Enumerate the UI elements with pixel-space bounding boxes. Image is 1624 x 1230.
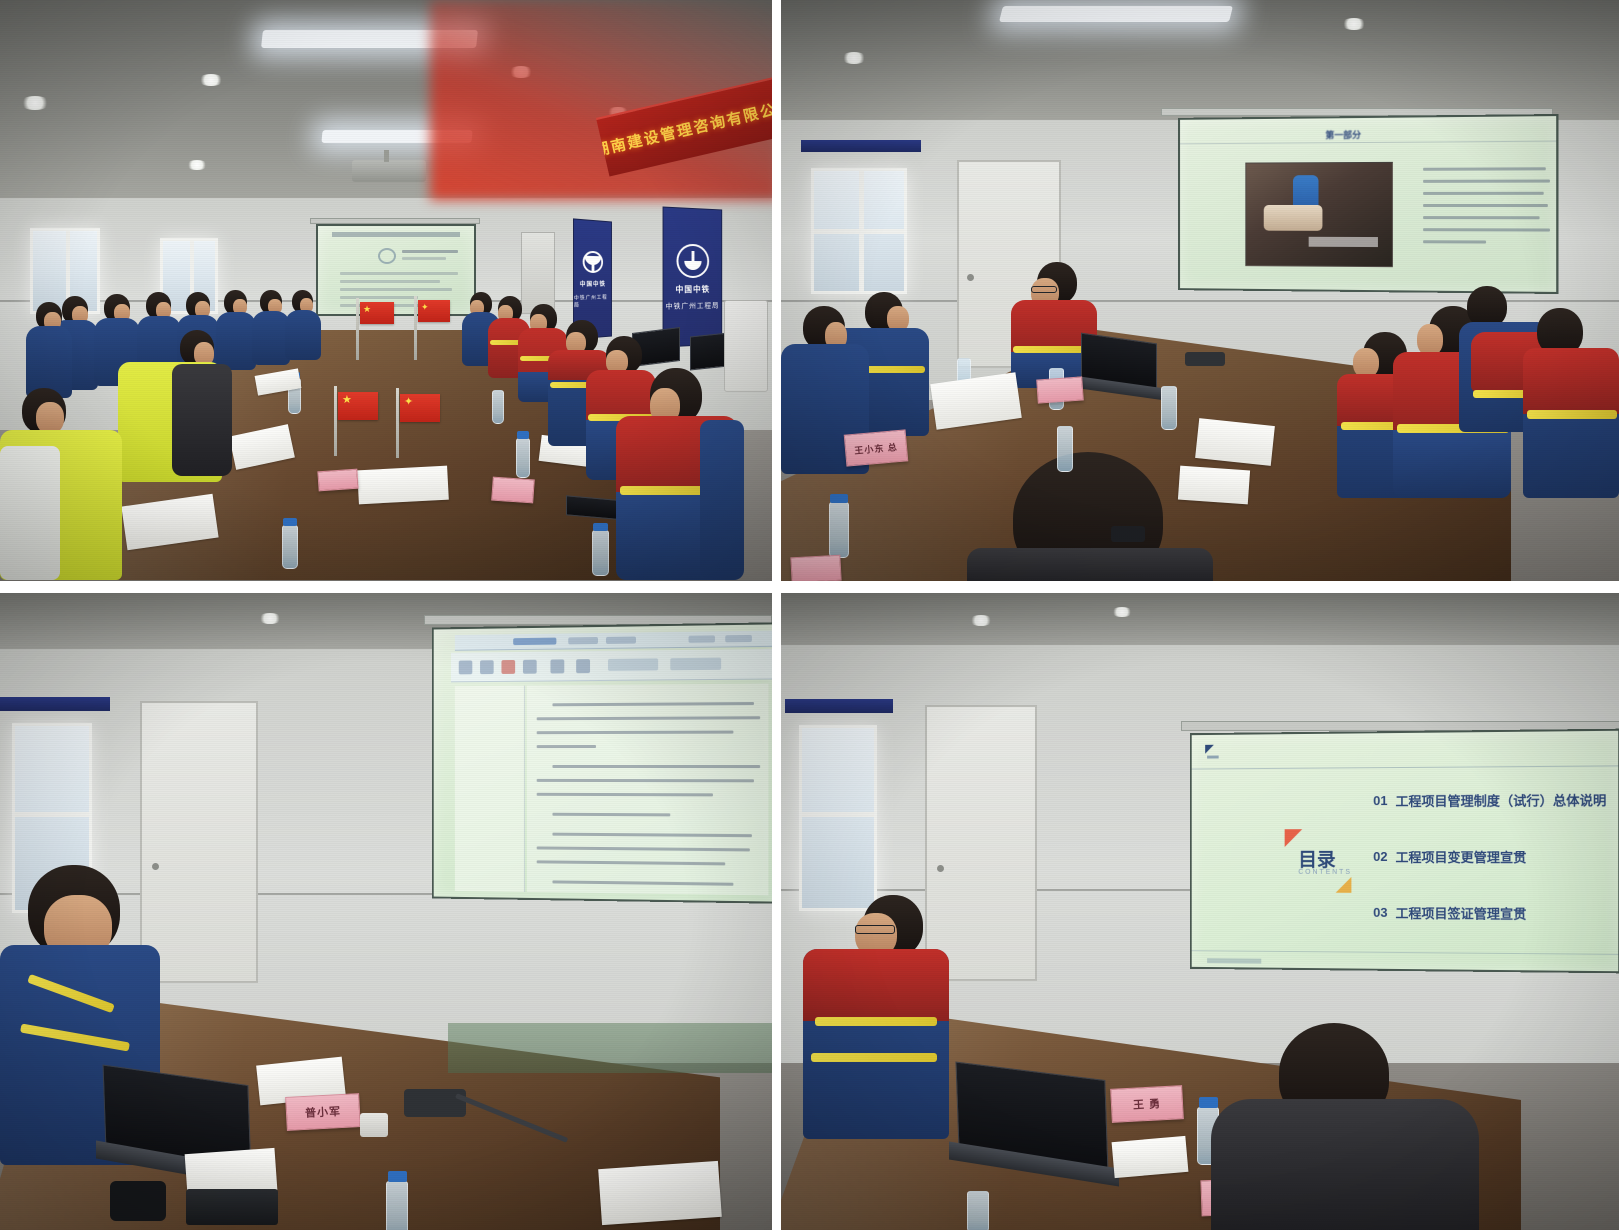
slide-text-line [402, 250, 458, 253]
door-knob-icon [152, 863, 159, 870]
ceiling-spot-light [198, 74, 224, 86]
name-card: 王小东 总 [844, 429, 909, 466]
name-card-text: 普小军 [305, 1103, 342, 1121]
flag-pole [334, 386, 337, 456]
panel-top-right: 第一部分 [781, 0, 1619, 581]
slide-photo [1245, 162, 1393, 267]
water-bottle [516, 438, 530, 478]
ribbon-group[interactable] [670, 658, 721, 671]
ribbon-icon[interactable] [501, 660, 515, 674]
water-bottle [592, 530, 609, 576]
ribbon-icon[interactable] [523, 660, 537, 674]
ceiling-light-panel [999, 6, 1233, 22]
document-paper [598, 1161, 722, 1225]
china-flag: ★ [338, 392, 378, 420]
microphone [1185, 352, 1225, 366]
panel-bottom-right: 目录 CONTENTS 01 工程项目管理制度（试行）总体说明 02 工程项目变… [781, 593, 1619, 1230]
photo-collage: 湖南建设管理咨询有限公司 [0, 0, 1624, 1230]
cable-bundle [110, 1181, 166, 1221]
name-card-text [508, 483, 519, 497]
slide-toc-number: 02 [1373, 849, 1387, 864]
window [799, 725, 877, 911]
slide-toc-label: 工程项目签证管理宣贯 [1395, 903, 1526, 923]
slide-photo-desk [1264, 205, 1323, 231]
slide-title-line [332, 232, 460, 237]
ceiling-spot-light [258, 613, 282, 624]
ceiling-spot-light [841, 52, 867, 64]
wall-accent-strip [785, 699, 893, 713]
eyeglasses-icon [1031, 286, 1057, 293]
projector-mount [384, 150, 389, 162]
name-card [790, 555, 841, 581]
name-card-text [1055, 383, 1066, 397]
wall-accent-strip [0, 697, 110, 711]
slide-divider [1180, 141, 1556, 145]
ceiling-spot-light [20, 96, 50, 110]
projection-screen [316, 224, 476, 316]
ceiling-spot-light [1341, 18, 1367, 30]
ceiling [781, 593, 1619, 653]
document-paper [357, 466, 449, 505]
window-transom [15, 812, 89, 817]
document-paper [1178, 466, 1250, 505]
door [140, 701, 258, 983]
name-card [317, 469, 358, 492]
projection-screen: 目录 CONTENTS 01 工程项目管理制度（试行）总体说明 02 工程项目变… [1190, 729, 1619, 974]
slide-title: 第一部分 [1325, 128, 1361, 141]
slide-divider [1192, 765, 1619, 769]
window-transom [814, 229, 904, 234]
slide-toc-label: 工程项目变更管理宣贯 [1395, 847, 1526, 866]
water-bottle [1161, 386, 1177, 430]
slide-toc-label: 工程项目管理制度（试行）总体说明 [1395, 790, 1606, 810]
name-card: 普小军 [285, 1093, 361, 1131]
app-tab[interactable] [725, 635, 752, 642]
smartphone [1111, 526, 1145, 542]
document-paper [1112, 1136, 1189, 1178]
company-banner-sub: 中铁广州工程局 [574, 293, 611, 308]
bottle-cap [1199, 1097, 1218, 1108]
slide-footer-divider [1192, 950, 1619, 955]
door-knob-icon [937, 865, 944, 872]
ceiling-spot-light [969, 615, 993, 626]
slide-heading: 目录 [1298, 845, 1335, 872]
door [925, 705, 1037, 981]
crec-logo-icon [676, 243, 709, 277]
bottle-cap [593, 523, 608, 531]
bottle-cap [830, 494, 848, 503]
flag-pole [396, 388, 399, 458]
room-shell-3: 普小军 [0, 593, 772, 1230]
app-titlebar[interactable] [455, 631, 772, 651]
white-shirt [0, 446, 60, 580]
projection-screen [432, 622, 772, 903]
desk-device [360, 1113, 388, 1137]
slide-logo-icon [378, 248, 396, 264]
slide-text-line [340, 296, 418, 299]
slide-toc-item: 01 工程项目管理制度（试行）总体说明 [1373, 790, 1606, 810]
document-paper [1195, 418, 1275, 466]
ribbon-icon[interactable] [459, 660, 473, 674]
crec-logo-icon [583, 250, 603, 272]
flag-emblem-icon: ✦ [421, 303, 429, 312]
slide-heading-sub: CONTENTS [1298, 869, 1352, 876]
eyeglasses-icon [855, 925, 895, 934]
company-banner-primary: 中国中铁 中铁广州工程局 [663, 206, 723, 347]
flag-star-icon: ★ [363, 305, 371, 314]
slide-toc-mark: 目录 CONTENTS [1285, 829, 1354, 893]
water-bottle [492, 390, 504, 424]
keyboard[interactable] [186, 1189, 278, 1225]
floor-ac-unit [724, 300, 768, 392]
slide-toc-item: 02 工程项目变更管理宣贯 [1373, 847, 1526, 866]
slide-text-line [340, 288, 452, 291]
panel-bottom-left: 普小军 [0, 593, 772, 1230]
window [811, 168, 907, 294]
window-transom [802, 812, 874, 817]
app-tab[interactable] [606, 637, 636, 644]
name-card-text: 王小东 总 [854, 440, 898, 457]
wall-accent-strip [801, 140, 921, 152]
party-flag: ✦ [400, 394, 440, 422]
bottle-cap [517, 431, 529, 439]
slide-logo-icon [1205, 745, 1220, 763]
flag-pole [356, 298, 359, 360]
room-shell-2: 第一部分 [781, 0, 1619, 581]
wall-cabinet [521, 232, 555, 314]
ribbon-icon[interactable] [550, 659, 564, 673]
toc-corner-icon [1336, 877, 1352, 893]
ribbon-group[interactable] [608, 658, 658, 671]
slide-text-line [402, 257, 446, 260]
water-bottle [386, 1181, 408, 1230]
company-banner-name: 中国中铁 [580, 278, 606, 287]
name-card: 王 勇 [1110, 1085, 1184, 1123]
ribbon-icon[interactable] [480, 660, 494, 674]
room-shell-4: 目录 CONTENTS 01 工程项目管理制度（试行）总体说明 02 工程项目变… [781, 593, 1619, 1230]
app-ribbon[interactable] [451, 649, 772, 682]
slide-toc-number: 03 [1373, 905, 1387, 920]
name-card-text: 王 勇 [1133, 1095, 1162, 1112]
door-knob-icon [967, 274, 974, 281]
party-flag: ✦ [418, 300, 450, 322]
flag-star-icon: ★ [342, 396, 352, 405]
water-bottle [829, 502, 849, 558]
app-tab[interactable] [689, 635, 715, 642]
room-shell-1: 湖南建设管理咨询有限公司 [0, 0, 772, 581]
slide-toc-item: 03 工程项目签证管理宣贯 [1373, 903, 1526, 923]
app-tab[interactable] [513, 638, 556, 646]
flag-emblem-icon: ✦ [404, 398, 413, 407]
company-banner-name: 中国中铁 [675, 283, 710, 294]
name-card-text [333, 473, 344, 487]
name-card [1036, 376, 1084, 403]
document-page[interactable] [527, 684, 769, 896]
bottle-cap [388, 1171, 407, 1182]
panel-top-left: 湖南建设管理咨询有限公司 [0, 0, 772, 581]
flag-pole [414, 296, 417, 360]
slide-photo-caption [1309, 237, 1378, 247]
app-tab[interactable] [568, 637, 598, 644]
ribbon-icon[interactable] [576, 659, 590, 673]
water-bottle [1057, 426, 1073, 472]
projection-screen: 第一部分 [1178, 114, 1558, 294]
water-bottle [967, 1191, 989, 1230]
table-edge-shadow [448, 1023, 772, 1073]
projector [352, 160, 426, 182]
water-bottle [282, 525, 298, 569]
slide-text-line [340, 272, 458, 275]
slide-toc-number: 01 [1373, 793, 1387, 808]
ceiling-spot-light [1111, 607, 1133, 617]
slide-text-line [340, 280, 440, 283]
slide-footer-text [1207, 958, 1261, 963]
china-flag: ★ [360, 302, 394, 324]
name-card [491, 477, 535, 504]
ceiling-spot-light [186, 160, 208, 170]
company-banner-sub: 中铁广州工程局 [666, 300, 720, 311]
bottle-cap [283, 518, 297, 526]
name-card-text [811, 562, 822, 576]
document-nav-pane[interactable] [455, 686, 525, 892]
